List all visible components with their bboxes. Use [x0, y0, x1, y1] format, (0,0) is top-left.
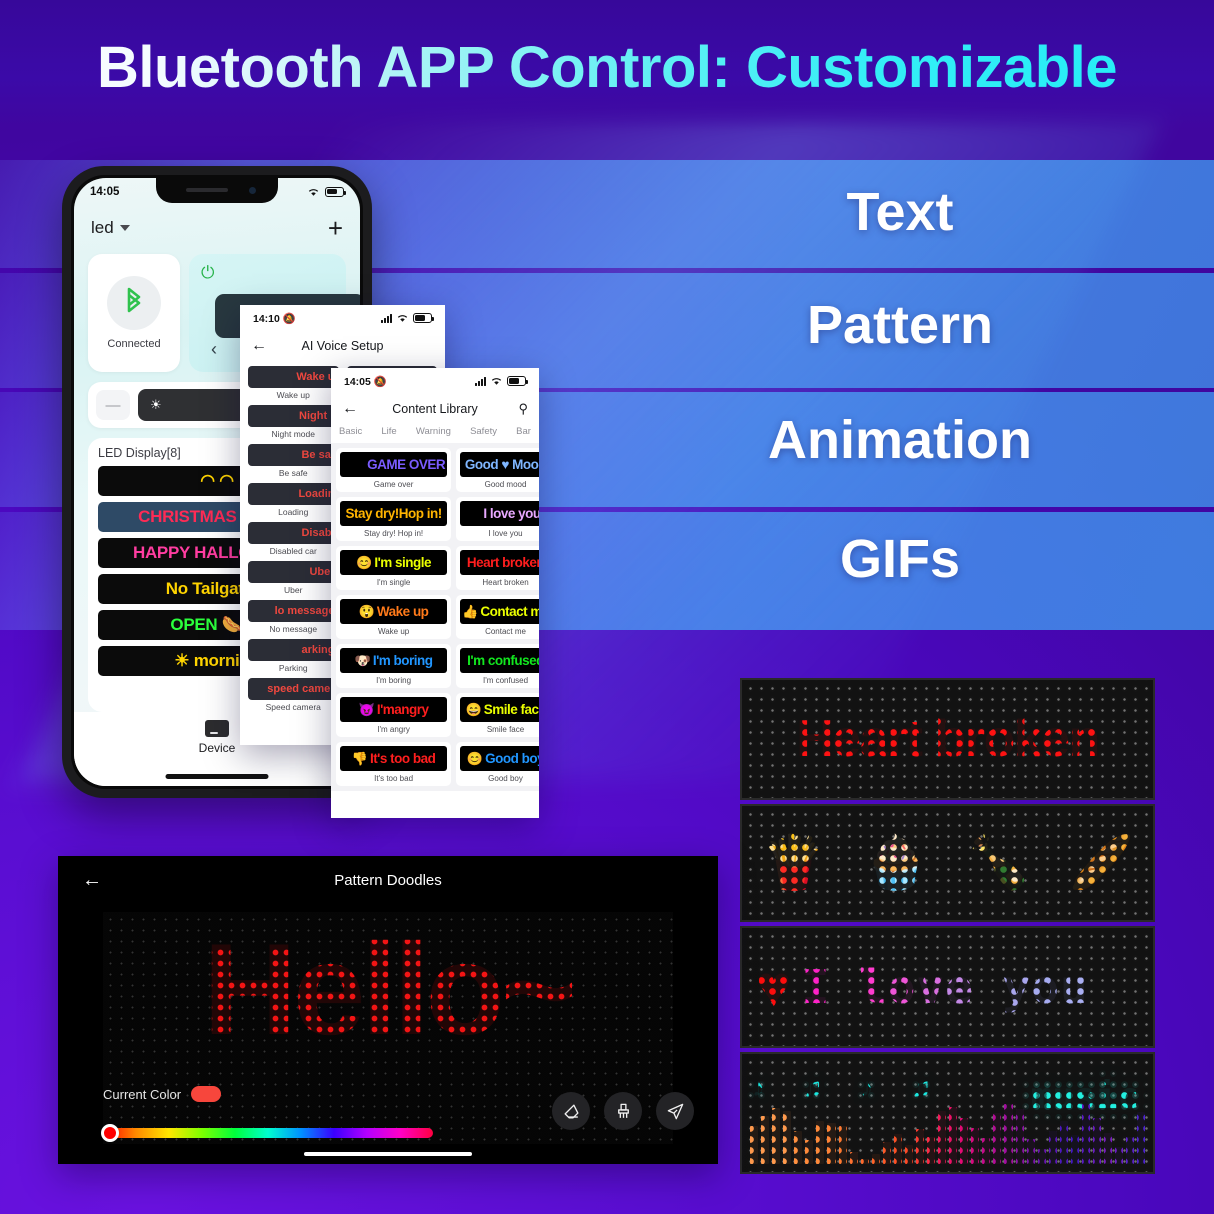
library-item-caption: Heart broken [460, 578, 539, 587]
arrow-left-icon[interactable]: ← [342, 401, 358, 417]
led-love-row: ♥ I love you [742, 957, 1153, 1017]
led-love-char: e [945, 960, 974, 1014]
led-love-char [830, 960, 859, 1014]
equalizer-bar [1004, 1104, 1012, 1164]
voice-preset-cell[interactable]: speed camerSpeed camera [248, 678, 339, 712]
search-icon[interactable]: ⚲ [518, 401, 528, 417]
library-item-caption: It's too bad [340, 774, 447, 783]
led-text-i-love-you: I love you [802, 960, 1089, 1014]
library-item-emoji-icon: 👎 [352, 751, 368, 767]
current-color-row: Current Color [103, 1086, 221, 1102]
signal-icon [475, 377, 486, 386]
library-item-caption: I love you [460, 529, 539, 538]
camera-icon [249, 187, 256, 194]
equalizer-bar [1115, 1147, 1123, 1164]
library-item-preview: 😊Good boy [460, 746, 539, 771]
equalizer-bar [1071, 1135, 1079, 1164]
library-item-caption: Wake up [340, 627, 447, 636]
bluetooth-icon [107, 276, 161, 330]
voice-status-time: 14:10 🔕 [253, 312, 296, 325]
bluetooth-card[interactable]: Connected [88, 254, 180, 372]
library-item-emoji-icon: 😊 [356, 555, 372, 571]
equalizer-bar [1049, 1131, 1057, 1164]
device-icon [205, 720, 229, 737]
library-tab-basic[interactable]: Basic [339, 426, 362, 437]
library-item-preview-text: GAME OVER [367, 457, 445, 472]
equalizer-bar [971, 1128, 979, 1164]
equalizer-bar [772, 1108, 780, 1164]
voice-preset-cell[interactable]: DisablDisabled car [248, 522, 339, 556]
status-time: 14:05 [90, 186, 119, 198]
equalizer-bar [938, 1111, 946, 1164]
library-item-emoji-icon: 😊 [467, 751, 483, 767]
equalizer-bar [816, 1121, 824, 1164]
voice-preset-chip[interactable]: Wake u [248, 366, 339, 388]
led-food-icon: 🍾 [967, 837, 1032, 889]
library-item-caption: Good mood [460, 480, 539, 489]
equalizer-bar [1137, 1112, 1145, 1164]
equalizer-bar [1060, 1121, 1068, 1164]
voice-preset-caption: Wake up [248, 390, 339, 400]
equalizer-bar [993, 1113, 1001, 1164]
voice-preset-caption: Speed camera [248, 702, 339, 712]
voice-preset-caption: Loading [248, 507, 339, 517]
voice-preset-chip[interactable]: Be saf [248, 444, 339, 466]
library-item-preview-text: Good ♥ Mood [465, 457, 539, 472]
library-item-caption: Stay dry! Hop in! [340, 529, 447, 538]
library-item[interactable]: Good ♥ MoodGood mood [456, 448, 539, 492]
library-item[interactable]: 😊I'm singleI'm single [336, 546, 451, 590]
library-item-preview: Stay dry!Hop in! [340, 501, 447, 526]
voice-preset-chip[interactable]: arking [248, 639, 339, 661]
equalizer-bar [1093, 1118, 1101, 1164]
library-item[interactable]: 😲Wake upWake up [336, 595, 451, 639]
bluetooth-status-label: Connected [107, 338, 160, 350]
library-item-preview: 😊I'm single [340, 550, 447, 575]
voice-preset-caption: Night mode [248, 429, 339, 439]
equalizer-bars [750, 1102, 1145, 1164]
library-item[interactable]: Heart brokenHeart broken [456, 546, 539, 590]
feature-label-text: Text [740, 181, 1060, 243]
voice-nav: ← AI Voice Setup [240, 331, 445, 361]
equalizer-bar [949, 1107, 957, 1164]
hue-slider-knob[interactable] [101, 1124, 119, 1142]
chevron-left-icon[interactable]: ‹ [211, 339, 217, 360]
equalizer-bar [894, 1134, 902, 1164]
library-item-caption: Contact me [460, 627, 539, 636]
app-header: led + [74, 208, 360, 248]
led-love-char: v [916, 960, 945, 1014]
equalizer-bar [761, 1116, 769, 1164]
feature-label-animation: Animation [740, 409, 1060, 471]
bell-off-icon: 🔕 [283, 313, 296, 325]
library-item-emoji-icon: 🐶 [355, 653, 371, 669]
voice-preset-cell[interactable]: lo messageNo message [248, 600, 339, 634]
library-item-emoji-icon: 😄 [466, 702, 482, 718]
library-item[interactable]: Stay dry!Hop in!Stay dry! Hop in! [336, 497, 451, 541]
doodle-panel-title: Pattern Doodles [58, 872, 718, 889]
equalizer-bar [1104, 1133, 1112, 1164]
equalizer-bar [805, 1140, 813, 1164]
led-panel-i-love-you: ♥ I love you [740, 926, 1155, 1048]
library-item-preview: Good ♥ Mood [460, 452, 539, 477]
equalizer-bar [960, 1118, 968, 1164]
equalizer-bar [916, 1129, 924, 1164]
voice-status-indicators [381, 313, 432, 323]
library-item-caption: Good boy [460, 774, 539, 783]
status-indicators [307, 187, 344, 197]
send-icon[interactable] [656, 1092, 694, 1130]
wifi-icon [396, 313, 409, 323]
library-item-caption: Game over [340, 480, 447, 489]
library-item-preview-text: Contact me [480, 604, 539, 619]
voice-preset-chip[interactable]: speed camer [248, 678, 339, 700]
voice-preset-caption: Uber [248, 585, 339, 595]
library-item-preview: Heart broken [460, 550, 539, 575]
led-love-char: u [1060, 960, 1089, 1014]
library-tab-warning[interactable]: Warning [416, 426, 451, 437]
equalizer-bar [827, 1123, 835, 1164]
music-note-icon: ♪♫♪♫ [752, 1072, 969, 1103]
equalizer-bar [1038, 1149, 1046, 1164]
led-panel-music: ♪♫♪♫ music [740, 1052, 1155, 1174]
led-love-char: I [802, 960, 831, 1014]
bluetooth-glyph [121, 287, 147, 319]
equalizer-bar [783, 1111, 791, 1164]
voice-preset-caption: Parking [248, 663, 339, 673]
library-item-caption: I'm boring [340, 676, 447, 685]
library-item-preview-text: I'm confused [467, 653, 539, 668]
equalizer-bar [1126, 1137, 1134, 1164]
library-item-preview-text: Wake up [377, 604, 429, 619]
library-item-preview-text: Good boy [485, 751, 539, 766]
library-item-caption: Smile face [460, 725, 539, 734]
current-color-swatch[interactable] [191, 1086, 221, 1102]
device-selector-label: led [91, 218, 114, 238]
equalizer-bar [1027, 1139, 1035, 1164]
led-food-icon: 🍟 [761, 837, 826, 889]
voice-preset-cell[interactable]: UberUber [248, 561, 339, 595]
voice-preset-chip[interactable]: Disabl [248, 522, 339, 544]
page-title: Bluetooth APP Control: Customizable [0, 34, 1214, 101]
library-item-preview-text: I'mangry [377, 702, 429, 717]
library-status-time: 14:05 🔕 [344, 375, 387, 388]
voice-status-bar: 14:10 🔕 [240, 305, 445, 331]
power-icon[interactable]: ⏻ [201, 264, 334, 281]
voice-preset-cell[interactable]: arkingParking [248, 639, 339, 673]
led-panel-heart-broken: Heart broken [740, 678, 1155, 800]
minus-icon[interactable]: — [96, 390, 130, 420]
library-item-preview: 👎It's too bad [340, 746, 447, 771]
voice-preset-cell[interactable]: Night rNight mode [248, 405, 339, 439]
voice-preset-chip[interactable]: Night r [248, 405, 339, 427]
equalizer-bar [1016, 1109, 1024, 1164]
library-item-preview: 😲Wake up [340, 599, 447, 624]
library-item-emoji-icon: 😲 [359, 604, 375, 620]
library-panel-title: Content Library [331, 402, 539, 416]
library-item-preview-text: I'm boring [373, 653, 433, 668]
library-item-caption: I'm confused [460, 676, 539, 685]
library-item-preview: 😈I'mangry [340, 697, 447, 722]
library-item[interactable]: 😊Good boyGood boy [456, 742, 539, 786]
phone-notch [156, 178, 278, 203]
voice-preset-chip[interactable]: Loadin [248, 483, 339, 505]
home-indicator [166, 774, 269, 779]
arrow-left-icon[interactable]: ← [251, 338, 267, 354]
heart-icon: ♥ [756, 957, 792, 1017]
library-item-preview-text: I love you [483, 506, 539, 521]
equalizer-bar [883, 1142, 891, 1164]
library-item-preview-text: I'm single [374, 555, 431, 570]
wifi-icon [307, 187, 320, 197]
library-tab-life[interactable]: Life [381, 426, 396, 437]
brush-icon[interactable] [604, 1092, 642, 1130]
tab-device-label: Device [199, 741, 236, 755]
led-panel-food-icons: 🍟🧁🍾🥖 [740, 804, 1155, 922]
library-item-preview-text: It's too bad [370, 751, 435, 766]
library-item[interactable]: 🐶I'm boringI'm boring [336, 644, 451, 688]
library-item-preview: 🐶I'm boring [340, 648, 447, 673]
equalizer-bar [850, 1152, 858, 1164]
voice-preset-cell[interactable]: Be safBe safe [248, 444, 339, 478]
equalizer-bar [839, 1126, 847, 1164]
voice-preset-cell[interactable]: Wake uWake up [248, 366, 339, 400]
speaker-icon [186, 188, 228, 192]
library-item-preview: ♥♥♥GAME OVER [340, 452, 447, 477]
led-love-char: o [888, 960, 917, 1014]
library-item-preview-text: Stay dry!Hop in! [345, 506, 441, 521]
voice-preset-cell[interactable]: LoadinLoading [248, 483, 339, 517]
pattern-doodles-panel: ← Pattern Doodles Hello~ Current Color [58, 856, 718, 1164]
library-item-preview: ❤I love you [460, 501, 539, 526]
led-display-item-text: ◠ ◠ [200, 471, 234, 491]
library-item-preview: 👍Contact me [460, 599, 539, 624]
equalizer-bar [1082, 1104, 1090, 1164]
doodle-nav: ← Pattern Doodles [58, 856, 718, 904]
led-food-icons: 🍟🧁🍾🥖 [742, 837, 1153, 889]
library-tab-safety[interactable]: Safety [470, 426, 497, 437]
library-item-caption: I'm angry [340, 725, 447, 734]
library-item-preview: I'm confused [460, 648, 539, 673]
library-item-emoji-icon: ♥♥♥ [342, 457, 365, 472]
library-nav: ← Content Library ⚲ [331, 394, 539, 424]
voice-preset-caption: No message [248, 624, 339, 634]
feature-label-gifs: GIFs [740, 528, 1060, 590]
signal-icon [381, 314, 392, 323]
equalizer-bar [794, 1131, 802, 1164]
led-content: ♪♫♪♫ music [742, 1054, 1153, 1172]
feature-label-pattern: Pattern [740, 294, 1060, 356]
led-food-icon: 🥖 [1069, 837, 1134, 889]
device-selector[interactable]: led [91, 218, 130, 238]
doodle-toolbar [552, 1092, 694, 1130]
library-item[interactable]: ♥♥♥GAME OVERGame over [336, 448, 451, 492]
wifi-icon [490, 376, 503, 386]
eraser-icon[interactable] [552, 1092, 590, 1130]
library-item-preview-text: Smile face [484, 702, 539, 717]
equalizer-bar [861, 1159, 869, 1164]
library-status-indicators [475, 376, 526, 386]
doodle-canvas-text: Hello~ [103, 924, 673, 1054]
led-love-char: y [1003, 960, 1032, 1014]
voice-preset-chip[interactable]: lo message [248, 600, 339, 622]
library-item-emoji-icon: 😈 [359, 702, 375, 718]
doodle-home-indicator [304, 1152, 472, 1156]
library-item-preview-text: Heart broken [467, 555, 539, 570]
library-item-emoji-icon: 👍 [462, 604, 478, 620]
plus-icon[interactable]: + [328, 215, 343, 241]
library-tab-bar[interactable]: Bar [516, 426, 531, 437]
battery-icon [507, 376, 526, 386]
library-status-bar: 14:05 🔕 [331, 368, 539, 394]
led-music-row: ♪♫♪♫ music [742, 1054, 1153, 1172]
led-content: 🍟🧁🍾🥖 [742, 806, 1153, 920]
equalizer-bar [905, 1145, 913, 1164]
library-item[interactable]: 👎It's too badIt's too bad [336, 742, 451, 786]
hue-slider[interactable] [103, 1128, 433, 1138]
library-item[interactable]: ❤I love youI love you [456, 497, 539, 541]
library-item[interactable]: 👍Contact meContact me [456, 595, 539, 639]
bell-off-icon: 🔕 [374, 376, 387, 388]
library-tabs: BasicLifeWarningSafetyBar [331, 424, 539, 443]
library-item-caption: I'm single [340, 578, 447, 587]
voice-preset-caption: Be safe [248, 468, 339, 478]
current-color-label: Current Color [103, 1087, 181, 1102]
led-text-heart-broken: Heart broken [742, 709, 1153, 769]
battery-icon [325, 187, 344, 197]
library-item-emoji-icon: ❤ [470, 506, 481, 522]
battery-icon [413, 313, 432, 323]
led-love-char [974, 960, 1003, 1014]
content-library-panel: 14:05 🔕 ← Content Library ⚲ BasicLifeWar… [331, 368, 539, 818]
equalizer-bar [982, 1138, 990, 1164]
equalizer-bar [750, 1126, 758, 1164]
tab-device[interactable]: Device [199, 720, 236, 755]
equalizer-bar [927, 1137, 935, 1164]
library-item[interactable]: 😈I'mangryI'm angry [336, 693, 451, 737]
led-content: ♥ I love you [742, 928, 1153, 1046]
voice-preset-chip[interactable]: Uber [248, 561, 339, 583]
equalizer-bar [872, 1154, 880, 1164]
led-content: Heart broken [742, 680, 1153, 798]
led-love-char: o [1031, 960, 1060, 1014]
led-love-char: l [859, 960, 888, 1014]
voice-preset-caption: Disabled car [248, 546, 339, 556]
library-grid: ♥♥♥GAME OVERGame overGood ♥ MoodGood moo… [331, 443, 539, 791]
chevron-down-icon [120, 225, 130, 231]
library-item[interactable]: 😄Smile faceSmile face [456, 693, 539, 737]
led-food-icon: 🧁 [864, 837, 929, 889]
library-item[interactable]: I'm confusedI'm confused [456, 644, 539, 688]
library-item-preview: 😄Smile face [460, 697, 539, 722]
voice-panel-title: AI Voice Setup [240, 339, 445, 353]
